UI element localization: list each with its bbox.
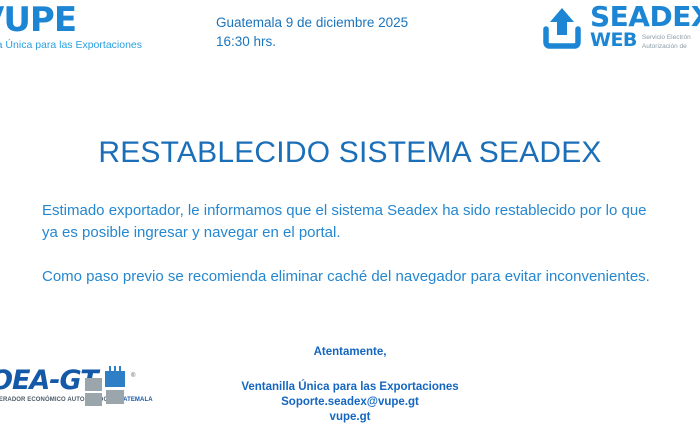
- page-header: VUPE anilla Única para las Exportaciones…: [0, 0, 700, 62]
- oea-prong-right-icon: [119, 366, 121, 372]
- upload-arrow-icon: [541, 4, 583, 50]
- signature-greeting: Atentamente,: [0, 345, 700, 360]
- vupe-logo-subtitle: anilla Única para las Exportaciones: [0, 39, 168, 52]
- seadex-tagline-line1: Servicio Electrón: [642, 33, 691, 42]
- header-datetime: Guatemala 9 de diciembre 2025 16:30 hrs.: [216, 13, 408, 51]
- seadex-web-logo: SEADEX WEB Servicio Electrón Autorizació…: [541, 3, 700, 51]
- header-time-line: 16:30 hrs.: [216, 32, 408, 51]
- body-paragraph-2: Como paso previo se recomienda eliminar …: [42, 266, 660, 288]
- page-title: RESTABLECIDO SISTEMA SEADEX: [0, 136, 700, 170]
- seadex-web-label: WEB: [590, 31, 637, 50]
- registered-trademark-icon: ®: [131, 373, 135, 379]
- oea-prong-left-icon: [109, 366, 111, 372]
- seadex-wordmark: SEADEX: [590, 3, 700, 30]
- oea-gt-mark-squares: ®: [85, 366, 140, 400]
- oea-gt-logo: OEA-GT OPERADOR ECONÓMICO AUTORIZADO - G…: [0, 366, 140, 418]
- vupe-wordmark: VUPE: [0, 2, 168, 38]
- oea-gray-square-bottom-right-icon: [106, 390, 124, 404]
- announcement-body: Estimado exportador, le informamos que e…: [42, 200, 660, 288]
- vupe-logo: VUPE anilla Única para las Exportaciones: [0, 2, 168, 52]
- oea-gray-square-top-icon: [85, 378, 102, 391]
- oea-prong-mid-icon: [114, 366, 116, 372]
- seadex-tagline: Servicio Electrón Autorización de: [642, 33, 691, 51]
- header-date-line: Guatemala 9 de diciembre 2025: [216, 13, 408, 32]
- body-paragraph-1: Estimado exportador, le informamos que e…: [42, 200, 660, 244]
- oea-gray-square-bottom-left-icon: [85, 393, 102, 406]
- seadex-tagline-line2: Autorización de: [642, 42, 691, 51]
- oea-blue-square-icon: [105, 371, 125, 387]
- oea-gt-wordmark: OEA-GT: [0, 366, 98, 396]
